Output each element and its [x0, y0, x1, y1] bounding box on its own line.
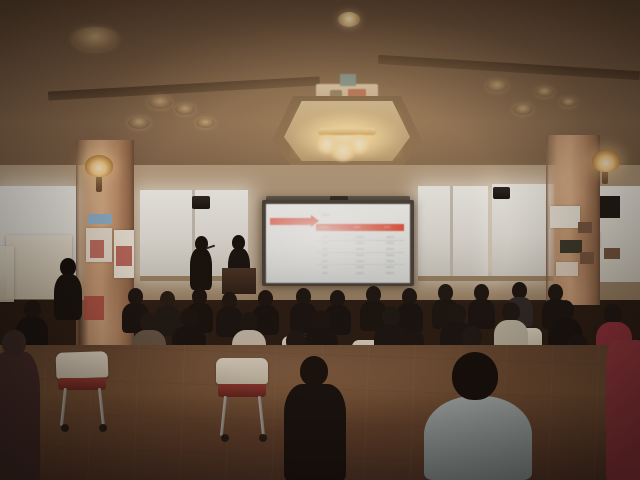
chair-caster-front-1b	[99, 424, 107, 432]
attendee-head-b3	[180, 308, 198, 328]
window-mullion-right	[450, 186, 453, 278]
chair-caster-front-2a	[221, 434, 229, 442]
screen-light-bloom	[266, 204, 410, 283]
attendee-head-b5	[312, 310, 330, 330]
presenter-lectern-head	[232, 235, 245, 250]
column-photo-right-3	[580, 252, 594, 264]
attendee-head-b2	[140, 312, 158, 332]
sconce-arm-right	[602, 170, 608, 184]
conference-room-photo: □□□ □□□□ □□□ □□□ □□□ □□□□ □□□□ □□□ □□□□ …	[0, 0, 640, 480]
display-partition-edge	[0, 246, 14, 302]
panel-photo-1	[604, 248, 620, 259]
attendee-head-b7	[448, 304, 466, 324]
chair-back-front-1	[56, 351, 109, 379]
column-photo-right-2	[560, 240, 582, 253]
attendee-head-b8	[502, 302, 520, 322]
attendee-head-b6	[382, 306, 400, 326]
column-poster-right-1	[550, 206, 580, 228]
chair-seat-front-2	[218, 384, 266, 397]
attendee-body-front-1	[284, 384, 346, 480]
framed-picture	[600, 196, 620, 218]
lectern	[222, 268, 256, 294]
sconce-arm-left	[96, 176, 102, 192]
chair-caster-front-1a	[61, 424, 69, 432]
wall-sconce-left	[85, 155, 113, 177]
column-poster-right-2	[556, 262, 578, 276]
window-right	[418, 186, 488, 278]
column-photo-right-1	[578, 222, 592, 233]
attendee-red-jacket-front	[606, 340, 640, 480]
attendee-body-front-2	[424, 396, 532, 480]
column-poster-left-6	[84, 296, 104, 320]
attendee-head-b9	[556, 300, 574, 320]
column-poster-left-5	[116, 246, 132, 266]
wall-speaker-right	[493, 187, 510, 199]
column-poster-left-1	[88, 214, 112, 224]
attendee-head-front-1	[300, 356, 328, 386]
attendee-body-front-3	[0, 352, 40, 480]
chair-back-front-2	[216, 358, 268, 384]
chair-caster-front-2b	[259, 434, 267, 442]
window-sill-right	[418, 276, 554, 281]
presenter-microphone-body	[190, 248, 212, 290]
column-poster-left-3	[90, 240, 104, 258]
attendee-head-front-3	[2, 330, 26, 356]
wall-sconce-right	[592, 150, 620, 172]
attendee-head-front-2	[452, 352, 498, 400]
attendee-head-b4	[240, 312, 258, 332]
staff-standing-body	[54, 274, 82, 320]
attendee-body-a11	[468, 299, 495, 329]
wall-speaker-left	[192, 196, 210, 209]
attendee-head-b10	[604, 304, 622, 324]
